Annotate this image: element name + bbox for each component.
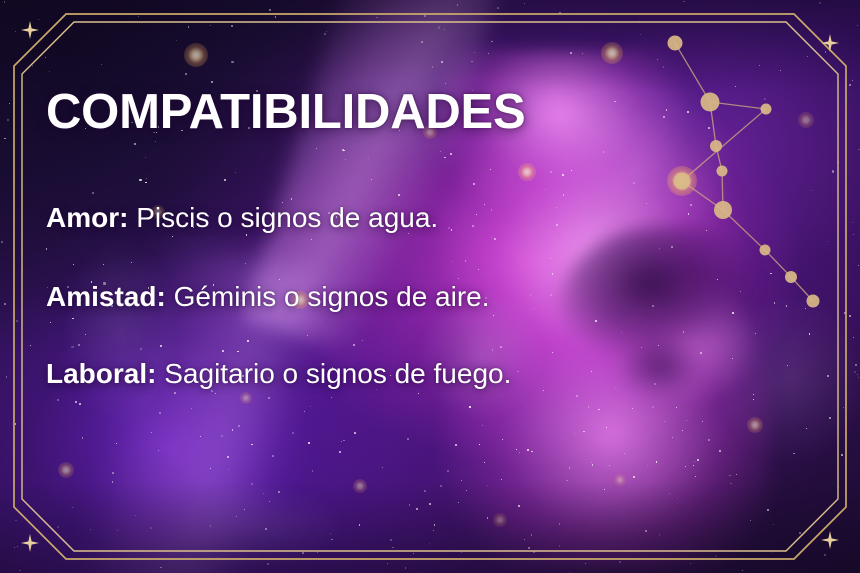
star	[656, 461, 657, 462]
star	[824, 554, 826, 556]
star	[639, 21, 640, 22]
star	[552, 273, 554, 275]
star	[753, 399, 754, 400]
star	[809, 333, 811, 335]
star	[390, 539, 392, 541]
star	[750, 520, 751, 521]
star	[528, 547, 530, 549]
star	[732, 358, 733, 359]
star	[461, 552, 462, 553]
content-block: COMPATIBILIDADES Amor: Piscis o signos d…	[46, 88, 646, 138]
star	[478, 269, 479, 270]
star	[735, 86, 736, 87]
star	[450, 153, 452, 155]
star	[278, 491, 280, 493]
star	[174, 392, 176, 394]
silhouette-shadow-lower	[600, 330, 720, 410]
star	[231, 25, 233, 27]
star	[488, 53, 489, 54]
star	[73, 264, 74, 265]
star	[116, 443, 117, 444]
star	[140, 348, 142, 350]
star	[852, 80, 853, 81]
constellation-line	[710, 102, 716, 146]
star	[455, 444, 457, 446]
star	[606, 427, 607, 428]
star	[686, 420, 687, 421]
star	[7, 119, 9, 121]
star	[447, 470, 449, 472]
bright-star	[58, 462, 74, 478]
star	[362, 340, 363, 341]
star	[500, 346, 502, 348]
star	[493, 315, 494, 316]
star	[852, 222, 853, 223]
star	[150, 527, 152, 529]
star	[158, 450, 159, 451]
star	[85, 334, 86, 335]
star	[222, 350, 224, 352]
star	[416, 508, 418, 510]
star	[715, 555, 717, 557]
star	[827, 375, 829, 377]
star	[398, 194, 400, 196]
compatibility-label-laboral: Laboral:	[46, 358, 156, 389]
star	[117, 530, 118, 531]
star	[501, 479, 502, 480]
star	[641, 347, 642, 348]
star	[566, 480, 567, 481]
star	[592, 464, 593, 465]
star	[45, 57, 46, 58]
star	[155, 141, 156, 142]
star	[469, 406, 470, 407]
star	[663, 116, 665, 118]
star	[543, 390, 544, 391]
star	[211, 81, 213, 83]
star	[159, 412, 161, 414]
star	[238, 425, 240, 427]
star	[217, 557, 218, 558]
star	[550, 171, 552, 173]
star	[185, 73, 187, 75]
star	[854, 371, 856, 373]
star	[666, 109, 668, 111]
star	[604, 489, 605, 490]
star	[160, 345, 162, 347]
star	[345, 159, 346, 160]
star	[742, 570, 743, 571]
star	[858, 149, 860, 151]
star	[353, 344, 355, 346]
sparkle-icon-bottom-left	[21, 534, 39, 552]
compatibility-value-amistad: Géminis o signos de aire.	[174, 281, 490, 312]
star	[232, 429, 233, 430]
star	[78, 344, 80, 346]
constellation-line	[765, 250, 791, 277]
star	[440, 151, 441, 152]
star	[101, 64, 102, 65]
star	[71, 346, 73, 348]
star	[17, 546, 18, 547]
star	[354, 432, 356, 434]
star	[491, 41, 492, 42]
star	[545, 189, 546, 190]
star	[647, 465, 648, 466]
star	[793, 453, 795, 455]
compatibility-value-laboral: Sagitario o signos de fuego.	[164, 358, 511, 389]
star	[853, 337, 854, 338]
star	[304, 411, 305, 412]
star	[843, 407, 844, 408]
compatibility-label-amistad: Amistad:	[46, 281, 166, 312]
star	[215, 393, 216, 394]
star	[502, 439, 503, 440]
star	[582, 53, 583, 54]
star	[4, 303, 6, 305]
star	[717, 279, 718, 280]
star	[461, 480, 462, 481]
star	[471, 61, 473, 63]
star	[516, 449, 517, 450]
star	[432, 66, 434, 68]
star	[231, 61, 233, 63]
constellation-node	[710, 140, 722, 152]
star	[131, 262, 132, 263]
star	[786, 305, 788, 307]
star	[530, 295, 531, 296]
star	[151, 432, 152, 433]
star	[491, 209, 493, 211]
star	[688, 213, 689, 214]
star	[759, 65, 760, 66]
constellation-line	[682, 181, 723, 210]
star	[251, 444, 252, 445]
star	[569, 467, 570, 468]
star	[671, 246, 673, 248]
star	[139, 179, 141, 181]
star	[484, 462, 485, 463]
star	[563, 194, 564, 195]
star	[700, 352, 702, 354]
star	[135, 515, 136, 516]
star	[669, 493, 670, 494]
star	[134, 143, 136, 145]
star	[476, 214, 477, 215]
star	[640, 34, 641, 35]
star	[307, 335, 308, 336]
bright-star	[240, 392, 252, 404]
star	[690, 563, 691, 564]
star	[621, 332, 622, 333]
star	[774, 302, 776, 304]
star	[497, 7, 499, 9]
star	[310, 406, 311, 407]
star	[479, 444, 480, 445]
star	[92, 192, 94, 194]
star	[46, 248, 47, 249]
star	[677, 498, 678, 499]
star	[14, 547, 15, 548]
star	[200, 436, 201, 437]
star	[368, 158, 369, 159]
star	[533, 551, 535, 553]
star	[585, 563, 586, 564]
star	[583, 431, 585, 433]
star	[527, 449, 529, 451]
star	[492, 349, 494, 351]
star	[559, 523, 561, 525]
star	[857, 374, 859, 376]
page-title: COMPATIBILIDADES	[46, 88, 646, 138]
star	[429, 543, 431, 545]
star	[799, 532, 801, 534]
star	[490, 169, 491, 170]
star	[331, 397, 332, 398]
constellation-node	[674, 173, 691, 190]
star	[556, 224, 558, 226]
star	[841, 454, 843, 456]
star	[556, 207, 557, 208]
star	[424, 490, 426, 492]
bright-star	[747, 417, 763, 433]
star	[659, 534, 661, 536]
star	[844, 312, 846, 314]
compatibility-row-amor: Amor: Piscis o signos de agua.	[46, 200, 438, 235]
constellation-node	[807, 295, 820, 308]
star	[19, 570, 20, 571]
star	[268, 397, 270, 399]
star	[145, 157, 146, 158]
star	[265, 528, 267, 530]
star	[392, 547, 393, 548]
constellation-node	[714, 201, 732, 219]
star	[405, 567, 407, 569]
star	[571, 170, 572, 171]
constellation-node	[760, 245, 771, 256]
star	[251, 483, 253, 485]
star	[245, 263, 246, 264]
sparkle-icon-top-right	[821, 34, 839, 52]
star	[632, 408, 633, 409]
constellation-line	[710, 102, 766, 109]
star	[702, 421, 703, 422]
constellation-node	[701, 93, 720, 112]
star	[311, 239, 312, 240]
star	[376, 17, 377, 18]
star	[518, 505, 520, 507]
constellation-line	[723, 210, 765, 250]
star	[819, 2, 821, 4]
star	[407, 438, 409, 440]
star	[646, 203, 647, 204]
star	[272, 455, 274, 457]
star	[615, 387, 616, 388]
star	[531, 451, 532, 452]
star	[773, 524, 774, 525]
constellation-node	[668, 36, 683, 51]
star	[247, 340, 248, 341]
star	[770, 273, 772, 275]
star	[269, 9, 271, 11]
star	[685, 466, 686, 467]
star	[458, 502, 459, 503]
bright-star	[798, 112, 814, 128]
star	[466, 490, 467, 491]
star	[676, 407, 677, 408]
star	[849, 84, 851, 86]
compatibility-row-amistad: Amistad: Géminis o signos de aire.	[46, 279, 490, 314]
star	[827, 241, 828, 242]
star	[732, 312, 733, 313]
star	[433, 530, 434, 531]
constellation-node	[717, 166, 728, 177]
star	[857, 25, 858, 26]
star	[413, 553, 414, 554]
star	[32, 65, 33, 66]
sparkle-icon-top-left	[21, 21, 39, 39]
star	[82, 437, 84, 439]
star	[275, 16, 276, 17]
star	[4, 138, 5, 139]
star	[740, 291, 742, 293]
star	[652, 305, 654, 307]
constellation-nodes	[668, 36, 820, 308]
star	[409, 504, 410, 505]
star	[531, 534, 532, 535]
star	[491, 237, 492, 238]
star	[30, 345, 32, 347]
star	[112, 472, 114, 474]
star	[494, 302, 495, 303]
star	[855, 364, 857, 366]
star	[697, 459, 699, 461]
star	[807, 56, 808, 57]
star	[330, 533, 331, 534]
star	[9, 103, 10, 104]
constellation-node	[785, 271, 797, 283]
star	[138, 16, 139, 17]
star	[472, 225, 474, 227]
star	[267, 563, 269, 565]
star	[359, 524, 361, 526]
star	[519, 452, 520, 453]
bright-star	[614, 474, 626, 486]
star	[550, 258, 551, 259]
star	[570, 52, 571, 53]
star	[487, 517, 489, 519]
star	[603, 151, 605, 153]
star	[316, 148, 317, 149]
star	[15, 31, 16, 32]
star	[72, 318, 74, 320]
star	[145, 182, 146, 183]
star	[429, 503, 431, 505]
star	[1, 241, 3, 243]
star	[693, 465, 694, 466]
star	[598, 409, 600, 411]
star	[780, 70, 781, 71]
compatibility-value-amor: Piscis o signos de agua.	[136, 202, 438, 233]
star	[38, 19, 39, 20]
star	[474, 52, 475, 53]
star	[755, 333, 756, 334]
star	[457, 4, 459, 6]
star	[465, 260, 466, 261]
star	[418, 393, 419, 394]
star	[801, 534, 803, 536]
star	[317, 552, 318, 553]
star	[221, 435, 223, 437]
star	[517, 371, 519, 373]
bright-star	[493, 513, 507, 527]
star	[829, 417, 831, 419]
star	[176, 40, 177, 41]
star	[188, 26, 190, 28]
star	[445, 83, 446, 84]
star	[695, 476, 696, 477]
star	[308, 442, 310, 444]
star	[210, 25, 211, 26]
star	[473, 183, 475, 185]
star	[342, 149, 344, 151]
star	[805, 308, 806, 309]
star	[838, 162, 839, 163]
bright-star	[667, 166, 697, 196]
star	[191, 408, 192, 409]
star	[452, 261, 453, 262]
star	[652, 406, 654, 408]
star	[657, 59, 658, 60]
bright-star	[518, 163, 536, 181]
star	[382, 467, 383, 468]
star	[235, 172, 236, 173]
constellation-line	[682, 109, 766, 181]
star	[838, 487, 839, 488]
star	[753, 394, 754, 395]
constellation-line	[716, 146, 722, 171]
star	[708, 127, 710, 129]
star	[237, 351, 238, 352]
star	[331, 539, 332, 540]
star	[767, 509, 769, 511]
star	[484, 204, 485, 205]
star	[706, 230, 707, 231]
bright-star	[184, 43, 208, 67]
star	[434, 524, 435, 525]
star	[90, 529, 91, 530]
star	[764, 98, 766, 100]
bright-star	[601, 42, 623, 64]
star	[825, 51, 827, 53]
star	[620, 558, 621, 559]
star	[341, 441, 342, 442]
star	[324, 33, 326, 35]
star	[654, 383, 656, 385]
star	[550, 294, 552, 296]
star	[576, 395, 578, 397]
star	[559, 12, 561, 14]
star	[103, 264, 104, 265]
star	[312, 470, 313, 471]
star	[444, 157, 445, 158]
star	[683, 1, 684, 2]
compatibility-label-amor: Amor:	[46, 202, 128, 233]
star	[654, 21, 655, 22]
constellation-lines	[675, 43, 813, 301]
star	[448, 227, 450, 229]
star	[339, 451, 341, 453]
